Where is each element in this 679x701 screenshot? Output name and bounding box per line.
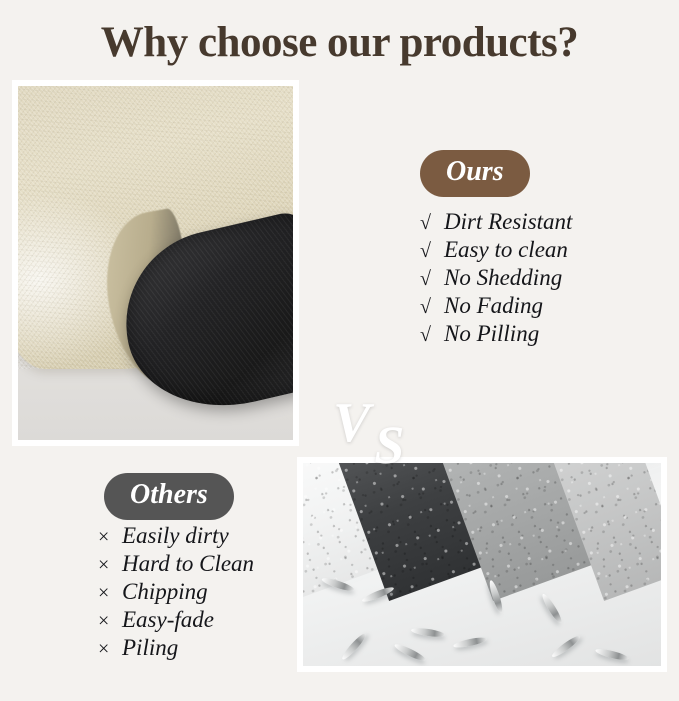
feature-label: No Shedding: [444, 265, 562, 291]
cross-icon: ×: [98, 554, 122, 577]
list-item: √Easy to clean: [420, 237, 572, 265]
versus-mark: VS: [333, 395, 404, 451]
list-item: √Dirt Resistant: [420, 209, 572, 237]
check-icon: √: [420, 296, 444, 319]
cross-icon: ×: [98, 610, 122, 633]
list-item: ×Easy-fade: [98, 607, 254, 635]
cross-icon: ×: [98, 526, 122, 549]
feature-label: Easy-fade: [122, 607, 214, 633]
others-feature-list: ×Easily dirty ×Hard to Clean ×Chipping ×…: [98, 523, 254, 663]
list-item: ×Hard to Clean: [98, 551, 254, 579]
feature-label: Hard to Clean: [122, 551, 254, 577]
ours-badge: Ours: [420, 150, 530, 197]
feature-label: Chipping: [122, 579, 208, 605]
feature-label: No Fading: [444, 293, 543, 319]
cross-icon: ×: [98, 582, 122, 605]
infographic-page: Why choose our products?: [0, 0, 679, 701]
feature-label: Easily dirty: [122, 523, 229, 549]
list-item: √No Fading: [420, 293, 572, 321]
others-product-photo: [297, 457, 667, 672]
feature-label: Easy to clean: [444, 237, 568, 263]
list-item: √No Shedding: [420, 265, 572, 293]
list-item: ×Piling: [98, 635, 254, 663]
feature-label: No Pilling: [444, 321, 539, 347]
feature-label: Dirt Resistant: [444, 209, 572, 235]
check-icon: √: [420, 240, 444, 263]
list-item: ×Chipping: [98, 579, 254, 607]
versus-letter-v: V: [333, 392, 372, 454]
ours-product-photo: [12, 80, 299, 446]
check-icon: √: [420, 268, 444, 291]
ours-photo-canvas: [18, 86, 293, 440]
feature-label: Piling: [122, 635, 178, 661]
check-icon: √: [420, 324, 444, 347]
check-icon: √: [420, 212, 444, 235]
cross-icon: ×: [98, 638, 122, 661]
list-item: √No Pilling: [420, 321, 572, 349]
ours-feature-list: √Dirt Resistant √Easy to clean √No Shedd…: [420, 209, 572, 349]
others-photo-canvas: [303, 463, 661, 666]
page-title: Why choose our products?: [0, 18, 679, 67]
list-item: ×Easily dirty: [98, 523, 254, 551]
others-badge: Others: [104, 473, 234, 520]
